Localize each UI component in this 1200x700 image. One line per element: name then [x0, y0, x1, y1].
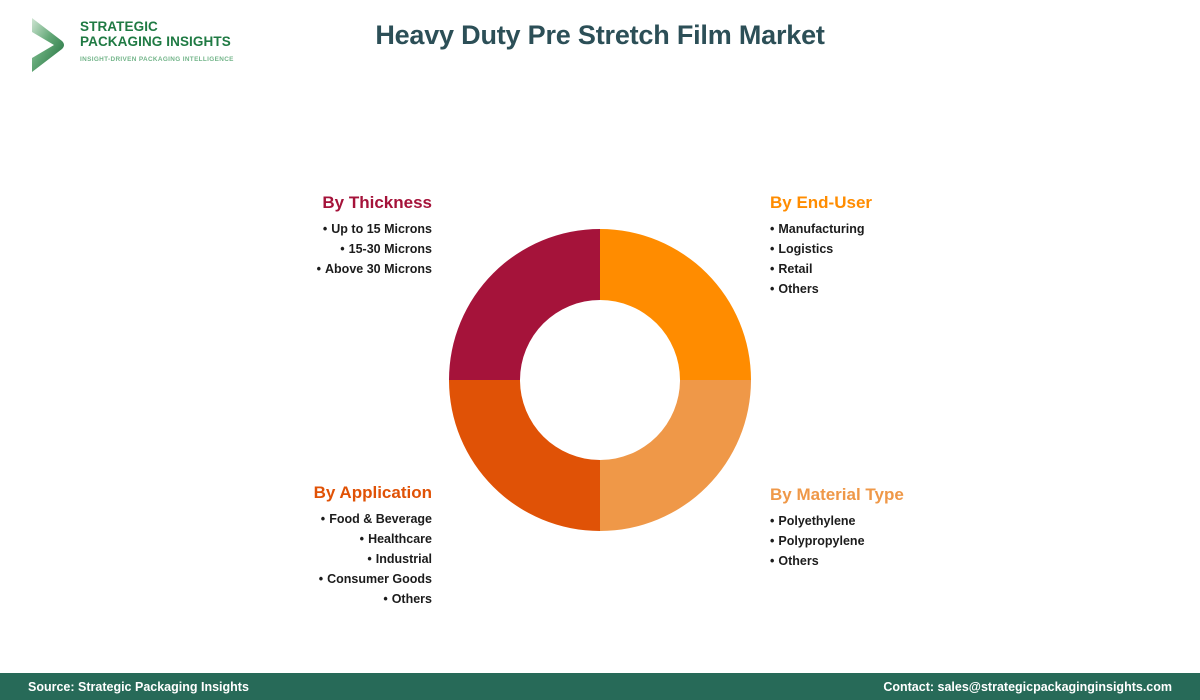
- bullet-icon: •: [317, 259, 321, 279]
- segment-by-application: By Application •Food & Beverage •Healthc…: [215, 483, 432, 609]
- footer-source: Source: Strategic Packaging Insights: [28, 680, 249, 694]
- footer-bar: Source: Strategic Packaging Insights Con…: [0, 673, 1200, 700]
- list-item: •Retail: [770, 259, 990, 279]
- list-item: •Industrial: [215, 549, 432, 569]
- list-item-label: Healthcare: [368, 532, 432, 546]
- page-title: Heavy Duty Pre Stretch Film Market: [0, 20, 1200, 51]
- bullet-icon: •: [770, 239, 774, 259]
- list-item-label: Retail: [778, 262, 812, 276]
- list-item: •Above 30 Microns: [225, 259, 432, 279]
- list-item: •Healthcare: [215, 529, 432, 549]
- list-item: •Polyethylene: [770, 511, 1000, 531]
- donut-slice-thickness: [449, 229, 600, 380]
- list-item: •Polypropylene: [770, 531, 1000, 551]
- donut-slice-application: [449, 380, 600, 531]
- list-item: •Others: [770, 279, 990, 299]
- footer-contact: Contact: sales@strategicpackaginginsight…: [883, 680, 1172, 694]
- list-item-label: Polyethylene: [778, 514, 855, 528]
- segment-title-thickness: By Thickness: [225, 193, 432, 213]
- list-item-label: Food & Beverage: [329, 512, 432, 526]
- list-item-label: 15-30 Microns: [349, 242, 432, 256]
- donut-chart: [449, 229, 751, 531]
- list-item-label: Consumer Goods: [327, 572, 432, 586]
- segment-by-material-type: By Material Type •Polyethylene •Polyprop…: [770, 485, 1000, 571]
- donut-slice-end-user: [600, 229, 751, 380]
- list-item-label: Up to 15 Microns: [331, 222, 432, 236]
- bullet-icon: •: [319, 569, 323, 589]
- list-item: •Consumer Goods: [215, 569, 432, 589]
- list-item-label: Logistics: [778, 242, 833, 256]
- segment-list-thickness: •Up to 15 Microns •15-30 Microns •Above …: [225, 219, 432, 279]
- list-item-label: Manufacturing: [778, 222, 864, 236]
- segment-title-application: By Application: [215, 483, 432, 503]
- bullet-icon: •: [770, 279, 774, 299]
- list-item: •15-30 Microns: [225, 239, 432, 259]
- list-item: •Manufacturing: [770, 219, 990, 239]
- list-item: •Food & Beverage: [215, 509, 432, 529]
- list-item-label: Others: [778, 282, 818, 296]
- bullet-icon: •: [340, 239, 344, 259]
- segment-by-thickness: By Thickness •Up to 15 Microns •15-30 Mi…: [225, 193, 432, 279]
- list-item-label: Above 30 Microns: [325, 262, 432, 276]
- list-item: •Others: [215, 589, 432, 609]
- segment-by-end-user: By End-User •Manufacturing •Logistics •R…: [770, 193, 990, 299]
- bullet-icon: •: [770, 511, 774, 531]
- list-item: •Logistics: [770, 239, 990, 259]
- segment-list-application: •Food & Beverage •Healthcare •Industrial…: [215, 509, 432, 609]
- bullet-icon: •: [383, 589, 387, 609]
- segment-list-end-user: •Manufacturing •Logistics •Retail •Other…: [770, 219, 990, 299]
- list-item: •Up to 15 Microns: [225, 219, 432, 239]
- list-item-label: Others: [778, 554, 818, 568]
- infographic-page: STRATEGIC PACKAGING INSIGHTS INSIGHT-DRI…: [0, 0, 1200, 700]
- bullet-icon: •: [323, 219, 327, 239]
- list-item-label: Polypropylene: [778, 534, 864, 548]
- bullet-icon: •: [360, 529, 364, 549]
- bullet-icon: •: [770, 531, 774, 551]
- logo-tagline: INSIGHT-DRIVEN PACKAGING INTELLIGENCE: [80, 56, 234, 63]
- bullet-icon: •: [770, 259, 774, 279]
- bullet-icon: •: [321, 509, 325, 529]
- bullet-icon: •: [367, 549, 371, 569]
- segment-list-material-type: •Polyethylene •Polypropylene •Others: [770, 511, 1000, 571]
- list-item-label: Industrial: [376, 552, 432, 566]
- list-item-label: Others: [392, 592, 432, 606]
- segment-title-material-type: By Material Type: [770, 485, 1000, 505]
- list-item: •Others: [770, 551, 1000, 571]
- segment-title-end-user: By End-User: [770, 193, 990, 213]
- bullet-icon: •: [770, 219, 774, 239]
- bullet-icon: •: [770, 551, 774, 571]
- donut-slice-material-type: [600, 380, 751, 531]
